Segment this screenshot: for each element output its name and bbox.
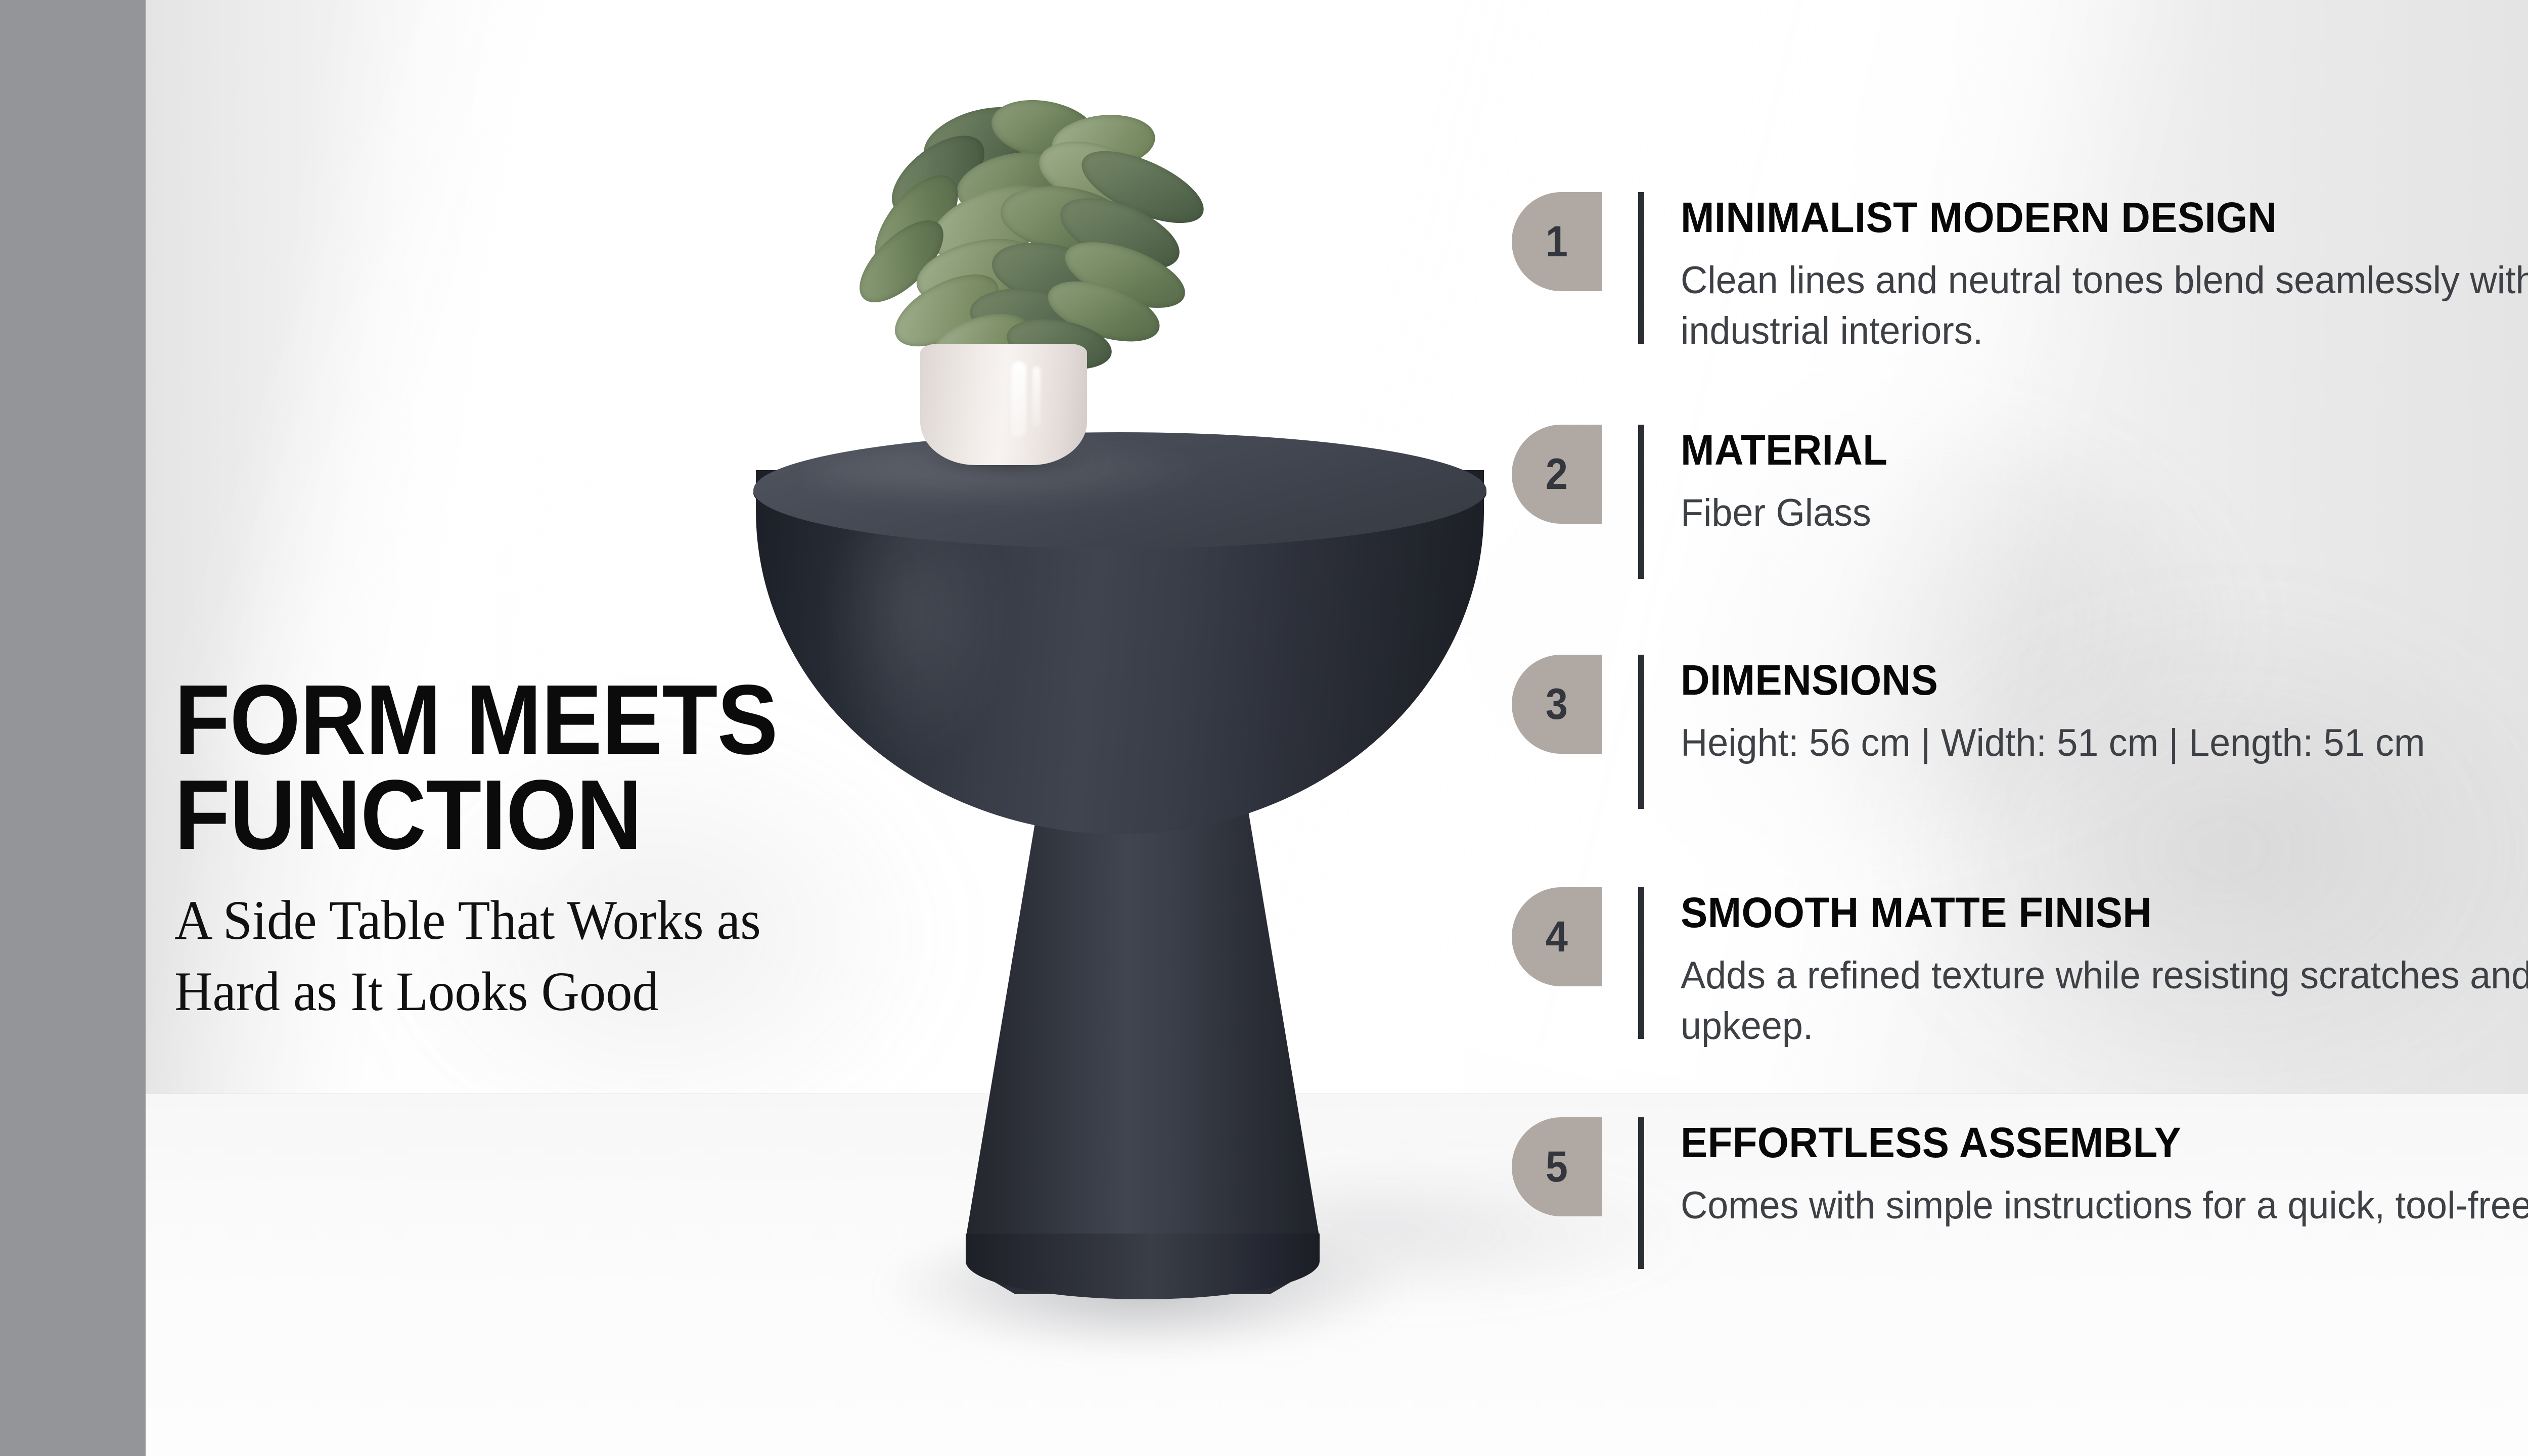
plant-foliage bbox=[839, 106, 1193, 369]
page-title: FORM MEETS FUNCTION bbox=[174, 672, 937, 862]
feature-number-2: 2 bbox=[1546, 449, 1568, 499]
feature-text-4: SMOOTH MATTE FINISH Adds a refined textu… bbox=[1681, 887, 2528, 1052]
feature-number-1: 1 bbox=[1546, 217, 1568, 267]
feature-text-2: MATERIAL Fiber Glass bbox=[1681, 425, 2528, 538]
feature-number-badge-2: 2 bbox=[1512, 425, 1602, 524]
feature-text-5: EFFORTLESS ASSEMBLY Comes with simple in… bbox=[1681, 1117, 2528, 1231]
feature-title-3: DIMENSIONS bbox=[1681, 658, 2528, 703]
feature-item-2: 2 MATERIAL Fiber Glass bbox=[1512, 425, 2528, 579]
feature-item-1: 1 MINIMALIST MODERN DESIGN Clean lines a… bbox=[1512, 192, 2528, 357]
headline-block: FORM MEETS FUNCTION A Side Table That Wo… bbox=[174, 672, 1004, 1027]
ceramic-planter bbox=[920, 344, 1087, 465]
feature-description-5: Comes with simple instructions for a qui… bbox=[1681, 1180, 2528, 1231]
feature-list: 1 MINIMALIST MODERN DESIGN Clean lines a… bbox=[1512, 0, 2528, 1456]
planter-gloss-highlight bbox=[1032, 367, 1041, 427]
feature-description-3: Height: 56 cm | Width: 51 cm | Length: 5… bbox=[1681, 718, 2528, 768]
feature-title-1: MINIMALIST MODERN DESIGN bbox=[1681, 195, 2528, 240]
page-subtitle: A Side Table That Works as Hard as It Lo… bbox=[174, 885, 962, 1027]
feature-number-3: 3 bbox=[1546, 679, 1568, 730]
planter-gloss-highlight bbox=[1011, 361, 1026, 437]
title-line-2: FUNCTION bbox=[174, 759, 642, 870]
feature-divider-rule-3 bbox=[1638, 655, 1644, 809]
feature-divider-rule-2 bbox=[1638, 425, 1644, 579]
feature-item-4: 4 SMOOTH MATTE FINISH Adds a refined tex… bbox=[1512, 887, 2528, 1052]
feature-text-1: MINIMALIST MODERN DESIGN Clean lines and… bbox=[1681, 192, 2528, 357]
feature-number-badge-3: 3 bbox=[1512, 655, 1602, 754]
subtitle-line-1: A Side Table That Works as bbox=[174, 885, 962, 956]
feature-description-4: Adds a refined texture while resisting s… bbox=[1681, 950, 2528, 1052]
feature-divider-rule-1 bbox=[1638, 192, 1644, 344]
feature-item-5: 5 EFFORTLESS ASSEMBLY Comes with simple … bbox=[1512, 1117, 2528, 1269]
feature-number-5: 5 bbox=[1546, 1142, 1568, 1192]
feature-divider-rule-4 bbox=[1638, 887, 1644, 1039]
infographic-canvas: FORM MEETS FUNCTION A Side Table That Wo… bbox=[0, 0, 2528, 1456]
feature-divider-rule-5 bbox=[1638, 1117, 1644, 1269]
title-line-1: FORM MEETS bbox=[174, 664, 778, 775]
feature-text-3: DIMENSIONS Height: 56 cm | Width: 51 cm … bbox=[1681, 655, 2528, 768]
feature-title-2: MATERIAL bbox=[1681, 428, 2528, 473]
feature-description-1: Clean lines and neutral tones blend seam… bbox=[1681, 255, 2528, 357]
feature-title-5: EFFORTLESS ASSEMBLY bbox=[1681, 1120, 2528, 1165]
feature-number-badge-1: 1 bbox=[1512, 192, 1602, 291]
feature-description-2: Fiber Glass bbox=[1681, 488, 2528, 538]
subtitle-line-2: Hard as It Looks Good bbox=[174, 956, 962, 1027]
feature-number-badge-5: 5 bbox=[1512, 1117, 1602, 1216]
feature-number-badge-4: 4 bbox=[1512, 887, 1602, 986]
feature-title-4: SMOOTH MATTE FINISH bbox=[1681, 890, 2528, 935]
feature-number-4: 4 bbox=[1546, 912, 1568, 962]
feature-item-3: 3 DIMENSIONS Height: 56 cm | Width: 51 c… bbox=[1512, 655, 2528, 809]
